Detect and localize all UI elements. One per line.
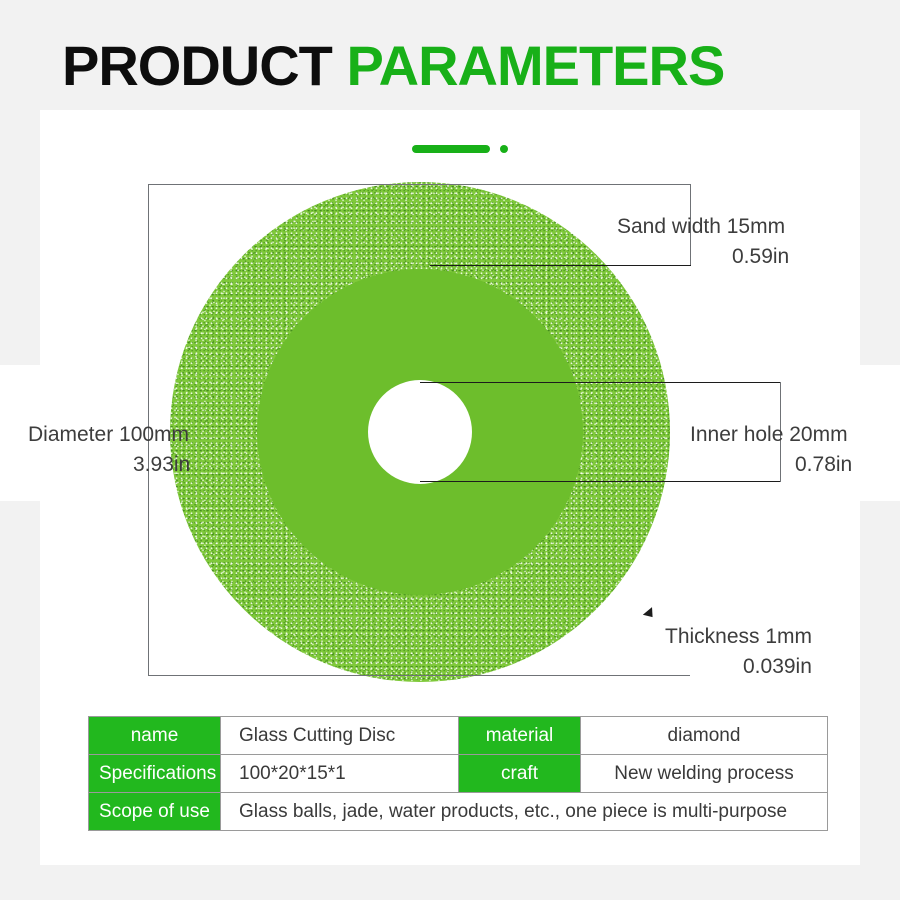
green-dot-icon <box>500 145 508 153</box>
cell-value-material: diamond <box>581 717 828 755</box>
cell-value-name: Glass Cutting Disc <box>221 717 459 755</box>
table-row: name Glass Cutting Disc material diamond <box>89 717 828 755</box>
annotation-diameter: Diameter 100mm 3.93in <box>28 420 190 480</box>
annotation-inner-hole: Inner hole 20mm 0.78in <box>690 420 852 480</box>
table-row: Specifications 100*20*15*1 craft New wel… <box>89 755 828 793</box>
inner-hole-line1: Inner hole 20mm <box>690 423 848 446</box>
cell-value-craft: New welding process <box>581 755 828 793</box>
diameter-line2: 3.93in <box>28 450 190 480</box>
table-row: Scope of use Glass balls, jade, water pr… <box>89 793 828 831</box>
cell-value-specifications: 100*20*15*1 <box>221 755 459 793</box>
cell-key-specifications: Specifications <box>89 755 221 793</box>
sand-width-line1: Sand width 15mm <box>617 215 785 238</box>
cutting-disc-image <box>170 182 670 682</box>
sand-width-line2: 0.59in <box>617 242 789 272</box>
thickness-line2: 0.039in <box>665 652 812 682</box>
cell-key-name: name <box>89 717 221 755</box>
diameter-bracket-bottom <box>148 675 690 676</box>
title-word-product: PRODUCT <box>62 34 332 97</box>
inner-hole-leader-bottom <box>420 481 780 482</box>
inner-hole-line2: 0.78in <box>690 450 852 480</box>
disc-center-hole <box>368 380 472 484</box>
cell-value-scope-of-use: Glass balls, jade, water products, etc.,… <box>221 793 828 831</box>
inner-hole-leader-top <box>420 382 780 383</box>
diameter-line1: Diameter 100mm <box>28 423 189 446</box>
annotation-sand-width: Sand width 15mm 0.59in <box>617 212 789 272</box>
page-header: PRODUCT PARAMETERS <box>0 0 900 110</box>
title-word-parameters: PARAMETERS <box>346 34 724 97</box>
thickness-line1: Thickness 1mm <box>665 625 812 648</box>
specifications-table: name Glass Cutting Disc material diamond… <box>88 716 828 831</box>
green-dash-icon <box>412 145 490 153</box>
annotation-thickness: Thickness 1mm 0.039in <box>665 622 812 682</box>
cell-key-craft: craft <box>459 755 581 793</box>
diameter-bracket-top <box>148 184 690 185</box>
cell-key-material: material <box>459 717 581 755</box>
cell-key-scope-of-use: Scope of use <box>89 793 221 831</box>
page-title: PRODUCT PARAMETERS <box>62 38 724 94</box>
